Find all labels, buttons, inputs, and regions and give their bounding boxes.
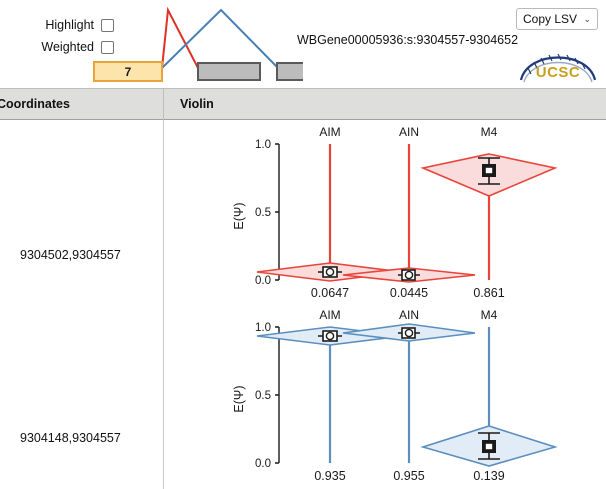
table-row-coordinates-0: 9304502,9304557	[20, 248, 121, 262]
copy-lsv-dropdown[interactable]: Copy LSV ⌄	[516, 8, 598, 30]
column-header-violin[interactable]: Violin	[180, 89, 214, 120]
y-tick-1.0-row0: 1.0	[255, 139, 271, 151]
y-tick-0.0-row0: 0.0	[255, 275, 271, 287]
group-value-m4-row0: 0.861	[473, 286, 504, 300]
copy-lsv-label: Copy LSV	[523, 12, 583, 26]
highlight-label: Highlight	[45, 18, 94, 32]
group-label-ain-row1: AIN	[399, 308, 419, 322]
y-tick-1.0-row1: 1.0	[255, 322, 271, 334]
group-value-aim-row0: 0.0647	[311, 286, 349, 300]
violin-plot-row-0[interactable]: 1.0 0.5 0.0 E(Ψ) AIM 0.0647	[175, 122, 595, 302]
chevron-down-icon: ⌄	[583, 15, 591, 24]
y-axis-label-row1: E(Ψ)	[232, 385, 246, 412]
group-value-aim-row1: 0.935	[314, 469, 345, 483]
group-label-aim-row0: AIM	[319, 125, 340, 139]
column-header-coordinates[interactable]: Coordinates	[0, 89, 70, 120]
violin-chart-1[interactable]: 1.0 0.5 0.0 E(Ψ) AIM 0.935	[175, 305, 595, 485]
ucsc-logo-text: UCSC	[536, 64, 581, 81]
toolbar: Highlight Weighted 7 WBGene00005936:s:93…	[0, 0, 606, 88]
group-label-ain-row0: AIN	[399, 125, 419, 139]
y-axis-1	[275, 327, 279, 463]
junction-blue[interactable]	[162, 10, 278, 68]
table-body: 9304502,9304557 1.0 0.5 0.0 E(Ψ) AIM 0.0…	[0, 120, 606, 489]
violin-plot-row-1[interactable]: 1.0 0.5 0.0 E(Ψ) AIM 0.935	[175, 305, 595, 485]
group-value-m4-row1: 0.139	[473, 469, 504, 483]
y-axis-0	[275, 144, 279, 280]
group-label-aim-row1: AIM	[319, 308, 340, 322]
exon-2[interactable]	[198, 63, 260, 80]
y-axis-label-row0: E(Ψ)	[232, 202, 246, 229]
y-tick-0.0-row1: 0.0	[255, 458, 271, 470]
header-column-divider	[163, 89, 164, 120]
weighted-label: Weighted	[41, 40, 94, 54]
y-tick-0.5-row1: 0.5	[255, 390, 271, 402]
exon-7-label: 7	[125, 65, 132, 79]
y-tick-0.5-row0: 0.5	[255, 207, 271, 219]
group-value-ain-row0: 0.0445	[390, 286, 428, 300]
group-value-ain-row1: 0.955	[393, 469, 424, 483]
results-table: Coordinates Violin 9304502,9304557 1.0 0…	[0, 88, 606, 489]
gene-id-label: WBGene00005936:s:9304557-9304652	[297, 33, 518, 47]
violin-group-ain-row0[interactable]: AIN 0.0445	[343, 125, 475, 300]
exon-3[interactable]	[277, 63, 303, 80]
splice-graph[interactable]: 7	[88, 2, 303, 86]
ucsc-logo: UCSC	[518, 40, 598, 84]
column-divider	[163, 120, 164, 489]
table-row-coordinates-1: 9304148,9304557	[20, 431, 121, 445]
group-label-m4-row1: M4	[481, 308, 498, 322]
violin-chart-0[interactable]: 1.0 0.5 0.0 E(Ψ) AIM 0.0647	[175, 122, 595, 302]
group-label-m4-row0: M4	[481, 125, 498, 139]
table-header-row: Coordinates Violin	[0, 88, 606, 120]
